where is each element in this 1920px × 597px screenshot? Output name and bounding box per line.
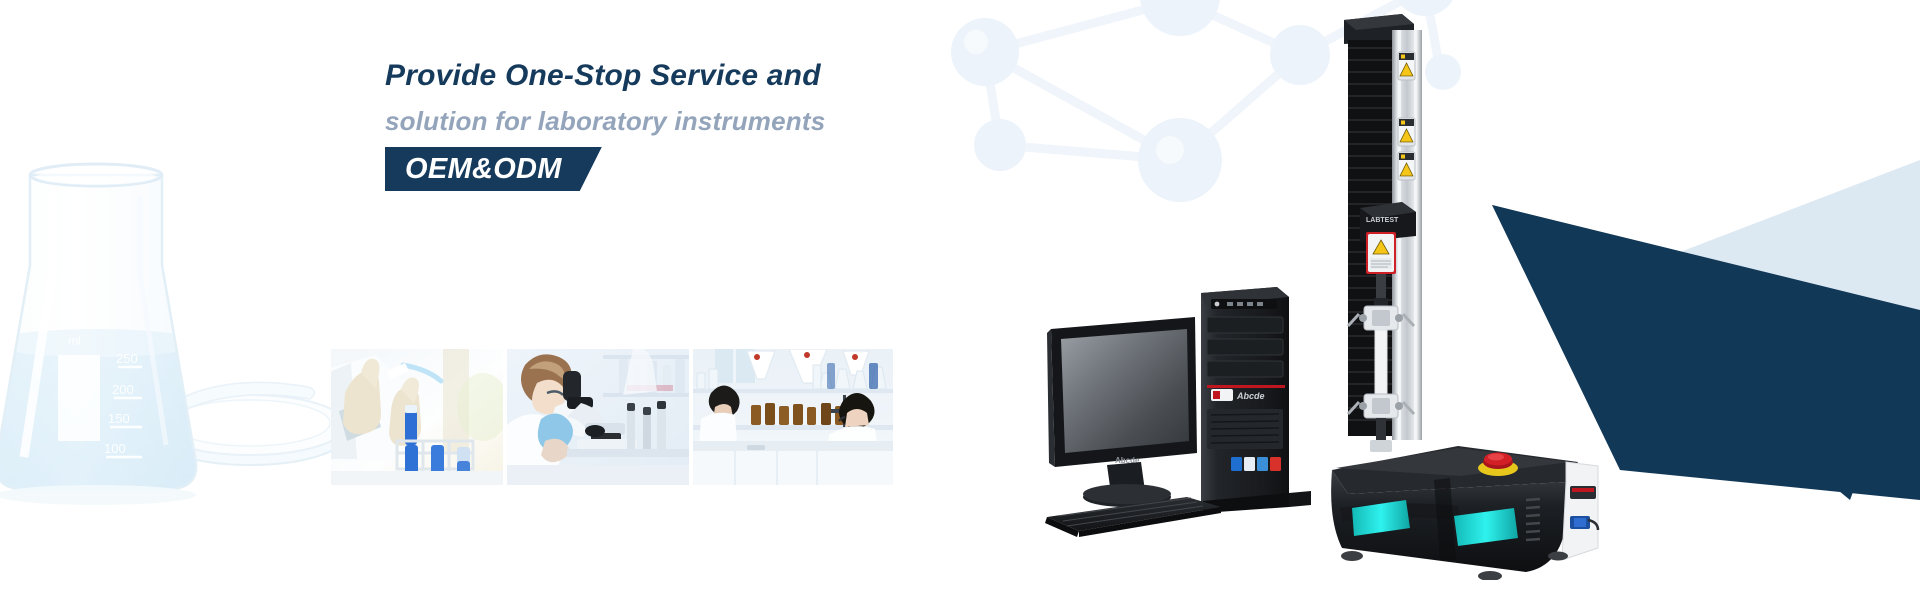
graduation-250: 250 [116, 351, 138, 366]
graduation-150: 150 [108, 411, 130, 426]
headline-line-1: Provide One-Stop Service and [385, 57, 1005, 95]
headline-block: Provide One-Stop Service and solution fo… [385, 57, 1005, 191]
led-strip-right [1454, 508, 1518, 546]
monitor: Abcde [1047, 317, 1197, 507]
photo-pipetting-test-tubes [331, 349, 503, 485]
oem-odm-badge: OEM&ODM [385, 147, 602, 191]
lower-grip [1348, 394, 1414, 418]
os-stickers [1231, 457, 1281, 471]
desktop-tower: Abcde [1201, 287, 1289, 513]
erlenmeyer-flask: 250 200 150 100 ml [0, 164, 210, 505]
keyboard [1045, 497, 1221, 537]
badge-label: OEM&ODM [385, 147, 602, 191]
graduation-200: 200 [112, 382, 134, 397]
machine-base [1331, 446, 1598, 580]
triangle-dark [1492, 205, 1920, 500]
hero-banner: 250 200 150 100 ml Provide One-Stop Serv… [0, 0, 1920, 597]
emergency-stop-button [1478, 453, 1518, 477]
led-strip-left [1352, 500, 1410, 536]
flask-unit-label: ml [68, 334, 81, 348]
photo-laboratory-workers [693, 349, 893, 485]
headline-line-2: solution for laboratory instruments [385, 104, 1005, 138]
warning-labels [1398, 52, 1415, 180]
photo-microscope-technician [507, 349, 689, 485]
triangle-light [1555, 160, 1920, 460]
desktop-computer-set: Abcde [1045, 285, 1345, 575]
petri-dish [154, 382, 346, 465]
svg-text:Abcde: Abcde [1236, 391, 1265, 401]
svg-text:Abcde: Abcde [1115, 456, 1140, 465]
crosshead: LABTEST [1360, 202, 1416, 242]
load-cell [1366, 232, 1396, 274]
svg-text:LABTEST: LABTEST [1366, 217, 1399, 224]
graduation-100: 100 [104, 441, 126, 456]
upper-grip [1348, 306, 1414, 330]
lab-photo-strip [331, 349, 893, 485]
universal-tensile-testing-machine: LABTEST [1330, 0, 1600, 580]
